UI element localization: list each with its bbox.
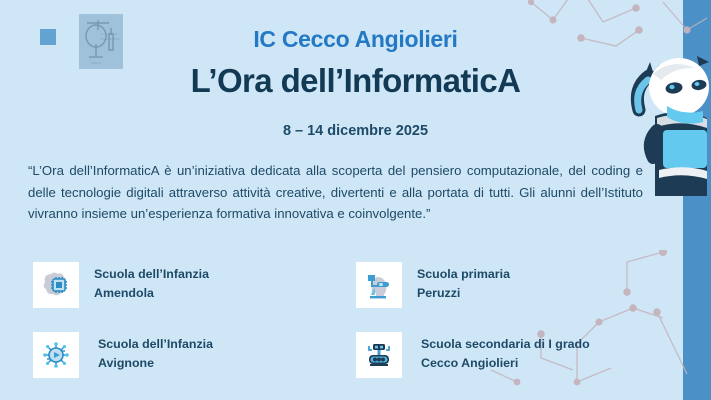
list-item: Scuola dell’Infanzia Avignone	[33, 330, 350, 396]
icon-tile	[356, 262, 402, 308]
vr-headset-head-icon	[364, 270, 394, 300]
organization-name: IC Cecco Angiolieri	[0, 26, 711, 53]
robot-rover-icon	[364, 340, 394, 370]
list-item: Scuola primaria Peruzzi	[356, 262, 673, 328]
icon-tile	[356, 332, 402, 378]
school-label: Scuola secondaria di I grado Cecco Angio…	[417, 332, 590, 373]
page-title: L’Ora dell’InformaticA	[0, 62, 711, 100]
schools-list: Scuola dell’Infanzia Amendola Scuola pri…	[33, 262, 673, 396]
school-label: Scuola dell’Infanzia Amendola	[94, 262, 209, 303]
icon-tile	[33, 262, 79, 308]
event-dates: 8 – 14 dicembre 2025	[0, 123, 711, 139]
list-item: Scuola dell’Infanzia Amendola	[33, 262, 350, 328]
circuit-node-icon	[41, 340, 71, 370]
description-text: “L’Ora dell’InformaticA è un’iniziativa …	[28, 160, 643, 225]
icon-tile	[33, 332, 79, 378]
poster-canvas: I.C. CECCO ANGIOLIERI SIENA IC Cecco A	[0, 0, 711, 400]
list-item: Scuola secondaria di I grado Cecco Angio…	[356, 330, 673, 396]
school-label: Scuola dell’Infanzia Avignone	[94, 332, 213, 373]
brain-chip-icon	[41, 270, 71, 300]
school-label: Scuola primaria Peruzzi	[417, 262, 510, 303]
